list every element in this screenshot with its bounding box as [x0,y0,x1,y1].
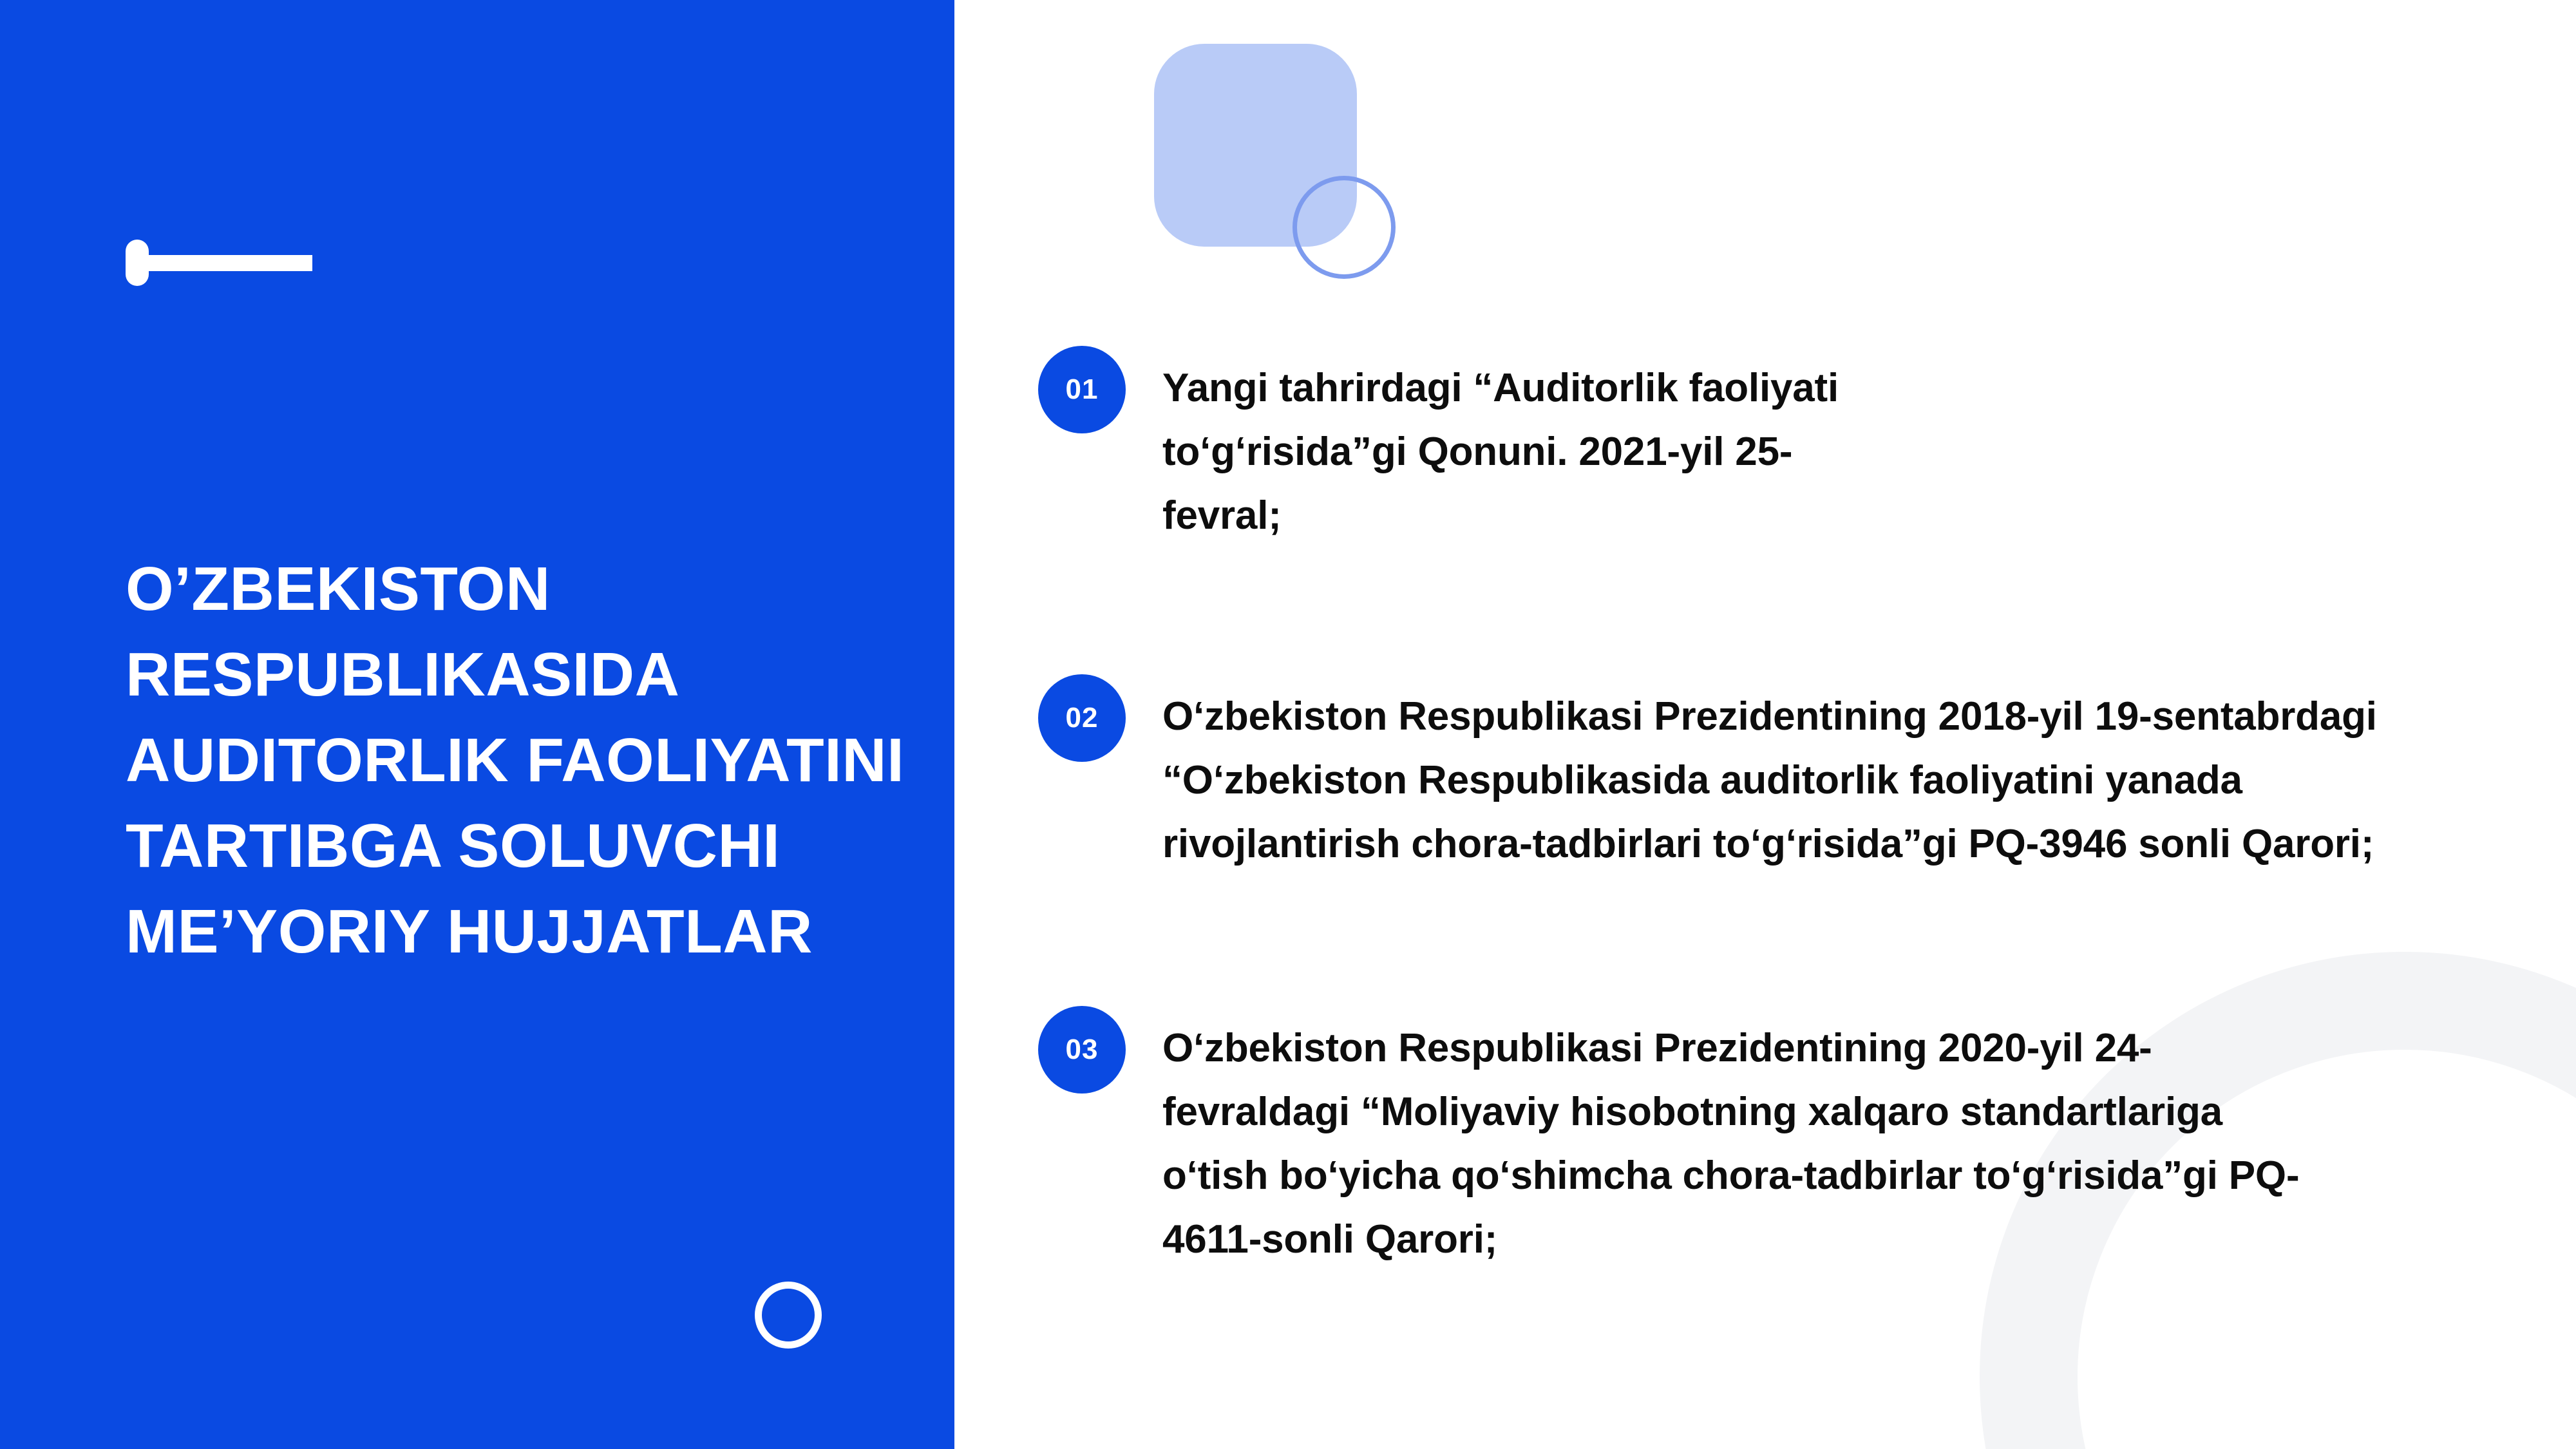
list-item-text: O‘zbekiston Respublikasi Prezidentining … [1162,1006,2315,1271]
list-item-text: O‘zbekiston Respublikasi Prezidentining … [1162,674,2386,876]
page-title-line-4: TARTIBGA SOLUVCHI [126,803,931,889]
slide-root: O’ZBEKISTON RESPUBLIKASIDA AUDITORLIK FA… [0,0,2576,1449]
page-title-line-2: RESPUBLIKASIDA [126,632,931,717]
list-item: 03 O‘zbekiston Respublikasi Prezidentini… [1038,1006,2315,1271]
circle-outline-icon [755,1282,822,1349]
status-badge: 02 [1038,674,1126,762]
list-item: 01 Yangi tahrirdagi “Auditorlik faoliyat… [1038,346,1909,547]
circle-outline-icon [1293,176,1396,279]
tick-mark-icon [126,240,312,286]
page-title-line-1: O’ZBEKISTON [126,546,931,632]
page-title-line-5: ME’YORIY HUJJATLAR [126,889,931,974]
decorative-shape-group [1154,44,1425,282]
tick-mark-horizontal-bar [144,255,312,271]
status-badge: 03 [1038,1006,1126,1094]
status-badge: 01 [1038,346,1126,433]
list-item: 02 O‘zbekiston Respublikasi Prezidentini… [1038,674,2386,876]
page-title: O’ZBEKISTON RESPUBLIKASIDA AUDITORLIK FA… [126,546,931,974]
list-item-text: Yangi tahrirdagi “Auditorlik faoliyati t… [1162,346,1909,547]
right-content-panel: 01 Yangi tahrirdagi “Auditorlik faoliyat… [954,0,2576,1449]
left-title-panel: O’ZBEKISTON RESPUBLIKASIDA AUDITORLIK FA… [0,0,954,1449]
page-title-line-3: AUDITORLIK FAOLIYATINI [126,717,931,803]
